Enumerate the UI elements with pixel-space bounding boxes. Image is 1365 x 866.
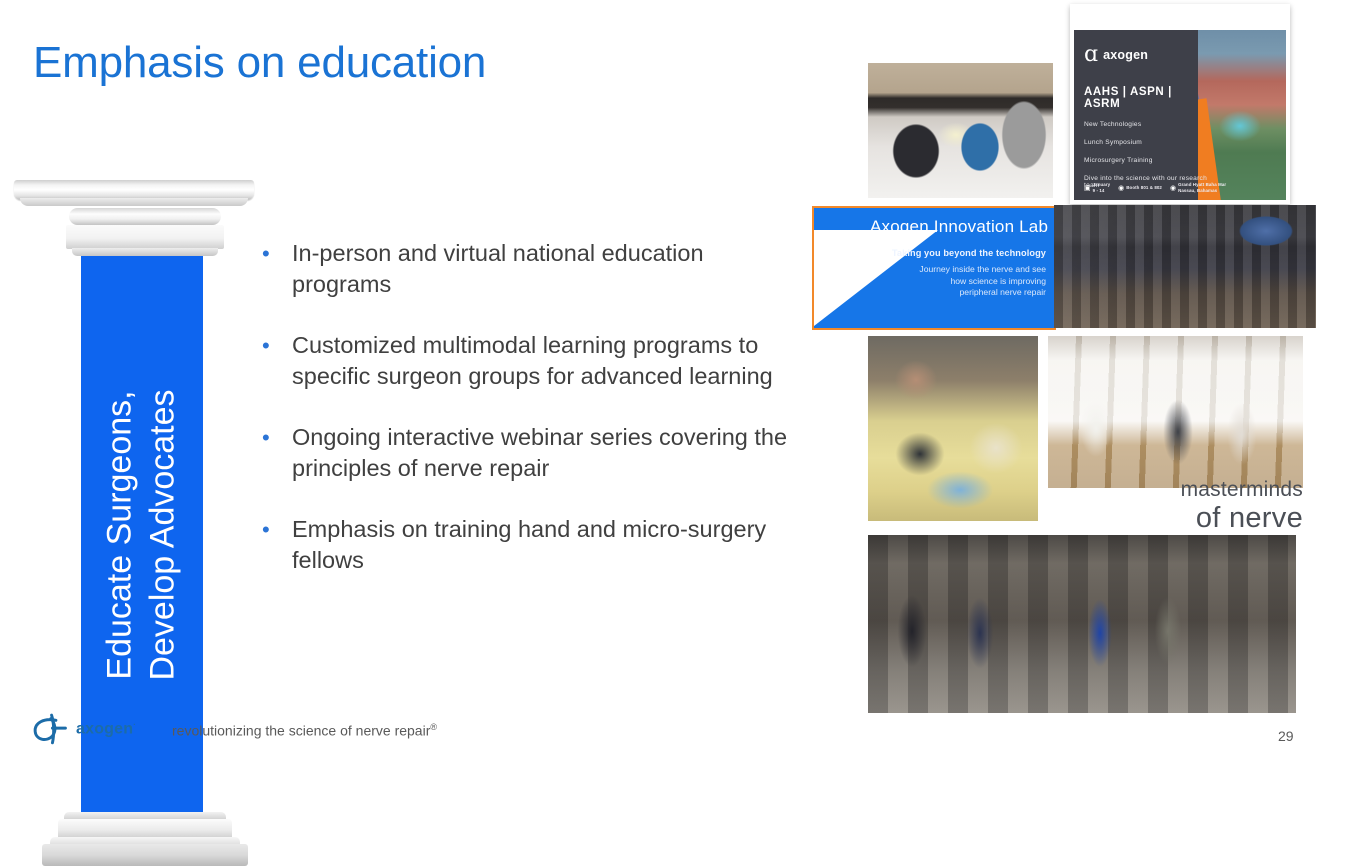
masterminds-line-2: of nerve [1048,502,1303,534]
photo-conference-poster: ɑ axogen AAHS | ASPN | ASRM New Technolo… [1070,4,1290,204]
pillar-base-plinth [42,844,248,866]
bullet-text: Customized multimodal learning programs … [292,330,801,392]
pillar-label: Educate Surgeons, Develop Advocates [99,389,185,680]
bullet-marker-icon: • [256,422,292,484]
footer-tagline-text: revolutionizing the science of nerve rep… [172,723,430,739]
innovation-lab-banner: Axogen Innovation Lab Taking you beyond … [812,206,1056,330]
pillar-graphic: Educate Surgeons, Develop Advocates [14,180,258,685]
pillar-label-line-2: Develop Advocates [142,389,185,680]
bullet-text: Ongoing interactive webinar series cover… [292,422,801,484]
poster-detail-text: January 9 - 14 [1093,182,1111,193]
bullet-list: • In-person and virtual national educati… [256,238,801,576]
poster-detail-date: ▣ January 9 - 14 [1084,182,1110,193]
registered-mark: ® [430,722,437,732]
banner-body-text: Journey inside the nerve and see how sci… [914,264,1046,299]
axogen-wordmark-text: axogen [76,720,133,737]
pillar-label-line-1: Educate Surgeons, [99,389,142,680]
poster-detail-venue: ◉ Grand Hyatt Baha Mar Nassau, Bahamas [1170,182,1226,193]
poster-detail-line-2: 9 - 14 [1093,188,1105,193]
banner-subtitle: Taking you beyond the technology [886,248,1046,258]
bullet-text: In-person and virtual national education… [292,238,801,300]
registered-mark: · [133,720,136,729]
list-item: • Emphasis on training hand and micro-su… [256,514,801,576]
banner-title: Axogen Innovation Lab [870,217,1048,237]
list-item: • In-person and virtual national educati… [256,238,801,300]
bullet-text: Emphasis on training hand and micro-surg… [292,514,801,576]
calendar-icon: ▣ [1084,184,1091,192]
poster-item: New Technologies [1084,121,1208,128]
image-collage: ɑ axogen AAHS | ASPN | ASRM New Technolo… [808,0,1328,716]
poster-item: Microsurgery Training [1084,157,1208,164]
photo-hands-on-lab [868,63,1053,198]
poster-content: ɑ axogen AAHS | ASPN | ASRM New Technolo… [1084,44,1208,189]
poster-detail-text: Grand Hyatt Baha Mar Nassau, Bahamas [1178,182,1226,193]
poster-detail-line-2: Nassau, Bahamas [1178,188,1217,193]
bullet-marker-icon: • [256,238,292,300]
bullet-marker-icon: • [256,514,292,576]
pillar-capital-neck [66,225,224,249]
axogen-mark-icon [30,712,68,746]
masterminds-of-nerve-wordmark: masterminds of nerve [1048,478,1303,534]
poster-detail-booth: ◉ Booth 801 & 802 [1118,184,1162,192]
poster-brand-name: axogen [1103,48,1148,62]
map-pin-icon: ◉ [1170,184,1176,192]
slide-canvas: Emphasis on education Educate Surgeons, … [0,0,1365,768]
poster-logo: ɑ axogen [1084,44,1208,66]
map-pin-icon: ◉ [1118,184,1124,192]
pillar-capital-abacus [14,180,254,200]
poster-item: Lunch Symposium [1084,139,1208,146]
poster-detail-line-1: January [1093,182,1111,187]
page-title: Emphasis on education [33,36,486,90]
poster-footer-details: ▣ January 9 - 14 ◉ Booth 801 & 802 ◉ Gr [1084,182,1226,193]
page-number: 29 [1278,728,1294,744]
list-item: • Customized multimodal learning program… [256,330,801,392]
axogen-mark-icon: ɑ [1084,44,1098,66]
photo-auditorium-audience [1054,205,1316,328]
footer-tagline: revolutionizing the science of nerve rep… [172,722,437,739]
bullet-marker-icon: • [256,330,292,392]
poster-body: ɑ axogen AAHS | ASPN | ASRM New Technolo… [1074,30,1286,200]
axogen-logo: axogen· [30,712,136,746]
photo-group-attendees [868,535,1296,713]
pillar-capital-collar [72,248,218,256]
axogen-wordmark: axogen· [76,720,136,738]
masterminds-line-1: masterminds [1048,478,1303,502]
list-item: • Ongoing interactive webinar series cov… [256,422,801,484]
poster-societies: AAHS | ASPN | ASRM [1084,86,1208,110]
photo-microsurgery-training [868,336,1038,521]
poster-detail-line-1: Grand Hyatt Baha Mar [1178,182,1226,187]
poster-detail-text: Booth 801 & 802 [1126,185,1162,190]
photo-poster-session [1048,336,1303,488]
pillar-capital-echinus [69,208,221,225]
